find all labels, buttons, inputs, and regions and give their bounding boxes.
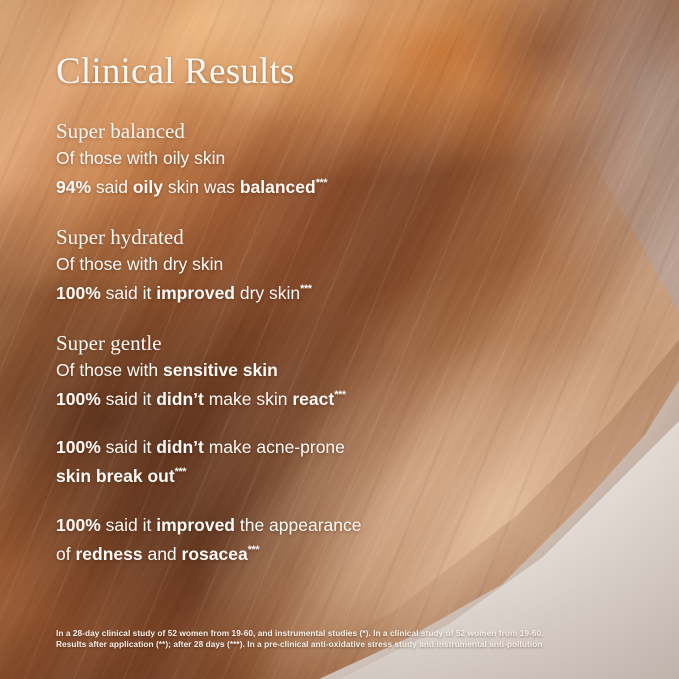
emphasis-text: improved — [156, 283, 235, 303]
result-line: skin break out*** — [56, 460, 556, 489]
result-block: 100% said it improved the appearanceof r… — [56, 513, 556, 567]
clinical-results-graphic: Clinical Results Super balancedOf those … — [0, 0, 679, 679]
body-text: Of those with — [56, 360, 163, 380]
emphasis-text: skin break out — [56, 466, 175, 486]
content-overlay: Clinical Results Super balancedOf those … — [0, 0, 679, 679]
emphasis-text: 100% — [56, 437, 101, 457]
results-list: Super balancedOf those with oily skin94%… — [56, 118, 556, 567]
result-line: 100% said it improved the appearance — [56, 513, 556, 538]
result-block: Super gentleOf those with sensitive skin… — [56, 330, 556, 412]
result-heading: Super hydrated — [56, 224, 556, 250]
body-text: said it — [101, 437, 156, 457]
body-text: the appearance — [235, 515, 362, 535]
footnote-marker: *** — [248, 544, 259, 556]
emphasis-text: 100% — [56, 283, 101, 303]
emphasis-text: 100% — [56, 388, 101, 408]
result-line: Of those with sensitive skin — [56, 358, 556, 383]
result-heading: Super balanced — [56, 118, 556, 144]
body-text: Of those with oily skin — [56, 148, 225, 168]
result-block: 100% said it didn’t make acne-proneskin … — [56, 435, 556, 489]
emphasis-text: oily — [133, 177, 163, 197]
footnote: In a 28-day clinical study of 52 women f… — [56, 628, 646, 651]
result-line: 100% said it didn’t make acne-prone — [56, 435, 556, 460]
footnote-line-1: In a 28-day clinical study of 52 women f… — [56, 628, 646, 639]
body-text: and — [143, 544, 182, 564]
body-text: skin was — [163, 177, 240, 197]
body-text: said it — [101, 388, 156, 408]
result-block: Super hydratedOf those with dry skin100%… — [56, 224, 556, 306]
emphasis-text: react — [292, 388, 334, 408]
emphasis-text: 100% — [56, 515, 101, 535]
result-line: 100% said it improved dry skin*** — [56, 277, 556, 306]
body-text: Of those with dry skin — [56, 254, 223, 274]
result-heading: Super gentle — [56, 330, 556, 356]
body-text: of — [56, 544, 75, 564]
result-block: Super balancedOf those with oily skin94%… — [56, 118, 556, 200]
body-text: said it — [101, 283, 156, 303]
body-text: make acne-prone — [204, 437, 345, 457]
emphasis-text: didn’t — [156, 388, 204, 408]
result-line: Of those with dry skin — [56, 252, 556, 277]
body-text: said — [91, 177, 133, 197]
emphasis-text: 94% — [56, 177, 91, 197]
body-text: make skin — [204, 388, 293, 408]
emphasis-text: redness — [75, 544, 142, 564]
result-line: Of those with oily skin — [56, 146, 556, 171]
emphasis-text: balanced — [240, 177, 316, 197]
footnote-marker: *** — [175, 466, 186, 478]
page-title: Clinical Results — [56, 53, 295, 90]
footnote-line-2: Results after application (**); after 28… — [56, 639, 646, 650]
footnote-marker: *** — [300, 283, 311, 295]
footnote-marker: *** — [334, 389, 345, 401]
emphasis-text: improved — [156, 515, 235, 535]
result-line: of redness and rosacea*** — [56, 538, 556, 567]
emphasis-text: rosacea — [182, 544, 248, 564]
result-line: 94% said oily skin was balanced*** — [56, 171, 556, 200]
result-line: 100% said it didn’t make skin react*** — [56, 383, 556, 412]
body-text: dry skin — [235, 283, 300, 303]
body-text: said it — [101, 515, 156, 535]
emphasis-text: sensitive skin — [163, 360, 278, 380]
footnote-marker: *** — [316, 177, 327, 189]
emphasis-text: didn’t — [156, 437, 204, 457]
